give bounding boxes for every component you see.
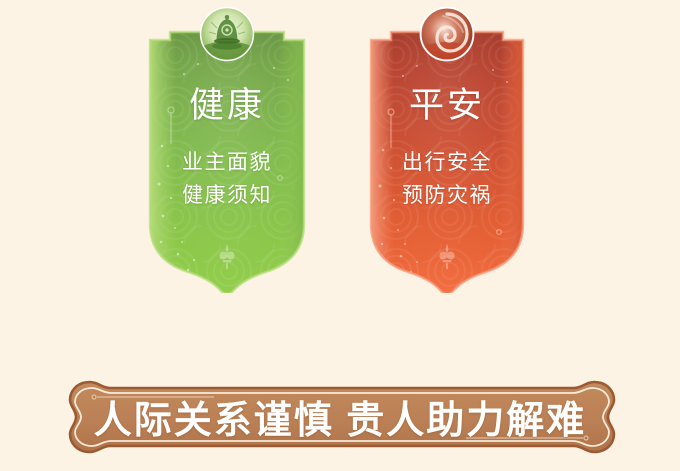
card-health-body: 健康 业主面貌 健康须知 [148,28,306,293]
fleur-de-lis-icon [436,243,458,271]
card-health-subtitle-2: 健康须知 [182,179,272,212]
card-safety-title: 平安 [409,86,485,126]
card-safety[interactable]: 平安 出行安全 预防灾祸 [369,28,525,293]
spiral-emblem-icon [419,6,475,62]
bottom-banner[interactable]: 人际关系谨慎 贵人助力解难 [62,378,618,456]
card-safety-subtitles: 出行安全 预防灾祸 [402,146,492,212]
card-health-subtitles: 业主面貌 健康须知 [182,146,272,212]
fleur-de-lis-icon [216,243,238,271]
card-health-title: 健康 [189,86,265,126]
card-safety-body: 平安 出行安全 预防灾祸 [369,28,525,293]
bell-emblem-icon [199,6,255,62]
card-health-subtitle-1: 业主面貌 [182,146,272,179]
card-safety-subtitle-2: 预防灾祸 [402,179,492,212]
card-safety-subtitle-1: 出行安全 [402,146,492,179]
poster-stage: 健康 业主面貌 健康须知 [0,0,680,471]
card-health[interactable]: 健康 业主面貌 健康须知 [148,28,306,293]
banner-text: 人际关系谨慎 贵人助力解难 [62,378,618,456]
